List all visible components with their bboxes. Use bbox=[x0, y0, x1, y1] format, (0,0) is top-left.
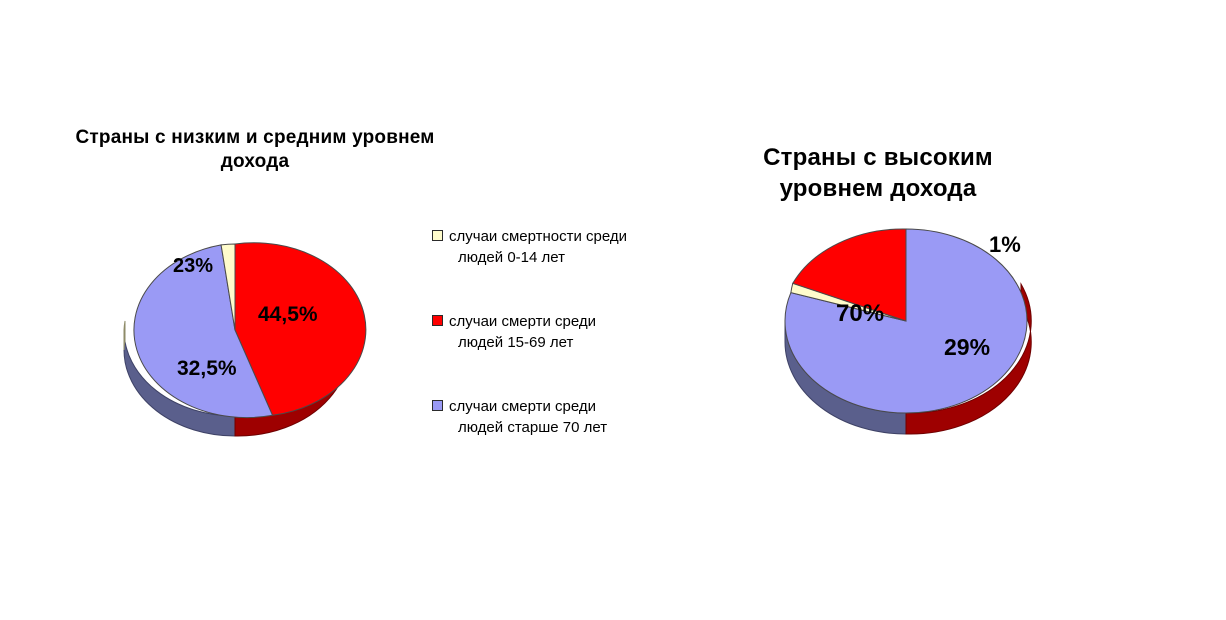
left-label-red: 44,5% bbox=[258, 303, 318, 327]
legend-label-0-14: случаи смертности среди людей 0-14 лет bbox=[449, 226, 627, 269]
legend-swatch-red-icon bbox=[432, 315, 443, 326]
legend-label-15-69-line1: случаи смерти среди bbox=[449, 313, 596, 330]
legend-swatch-cream-icon bbox=[432, 230, 443, 241]
legend-label-15-69-line2: людей 15-69 лет bbox=[449, 332, 596, 353]
left-pie-chart bbox=[118, 220, 358, 440]
legend-swatch-lavender-icon bbox=[432, 400, 443, 411]
legend-label-70plus-line2: людей старше 70 лет bbox=[449, 417, 607, 438]
left-chart-title: Страны с низким и средним уровнем дохода bbox=[75, 126, 435, 175]
legend-item-15-69[interactable]: случаи смерти среди людей 15-69 лет bbox=[432, 311, 596, 354]
slide-canvas: Страны с низким и средним уровнем дохода… bbox=[0, 0, 1226, 620]
legend-item-70plus[interactable]: случаи смерти среди людей старше 70 лет bbox=[432, 396, 607, 439]
right-label-cream: 1% bbox=[989, 232, 1021, 258]
legend-label-0-14-line1: случаи смертности среди bbox=[449, 228, 627, 245]
left-pie-svg bbox=[118, 220, 358, 440]
legend-label-15-69: случаи смерти среди людей 15-69 лет bbox=[449, 311, 596, 354]
left-label-cream: 23% bbox=[173, 255, 213, 278]
legend-label-0-14-line2: людей 0-14 лет bbox=[449, 247, 627, 268]
right-label-red: 29% bbox=[944, 334, 990, 361]
legend-label-70plus-line1: случаи смерти среди bbox=[449, 398, 596, 415]
legend-item-0-14[interactable]: случаи смертности среди людей 0-14 лет bbox=[432, 226, 627, 269]
legend-label-70plus: случаи смерти среди людей старше 70 лет bbox=[449, 396, 607, 439]
right-label-lavender: 70% bbox=[836, 300, 884, 328]
right-chart-title: Страны с высоким уровнем дохода bbox=[718, 142, 1038, 204]
left-label-lavender: 32,5% bbox=[177, 357, 237, 381]
